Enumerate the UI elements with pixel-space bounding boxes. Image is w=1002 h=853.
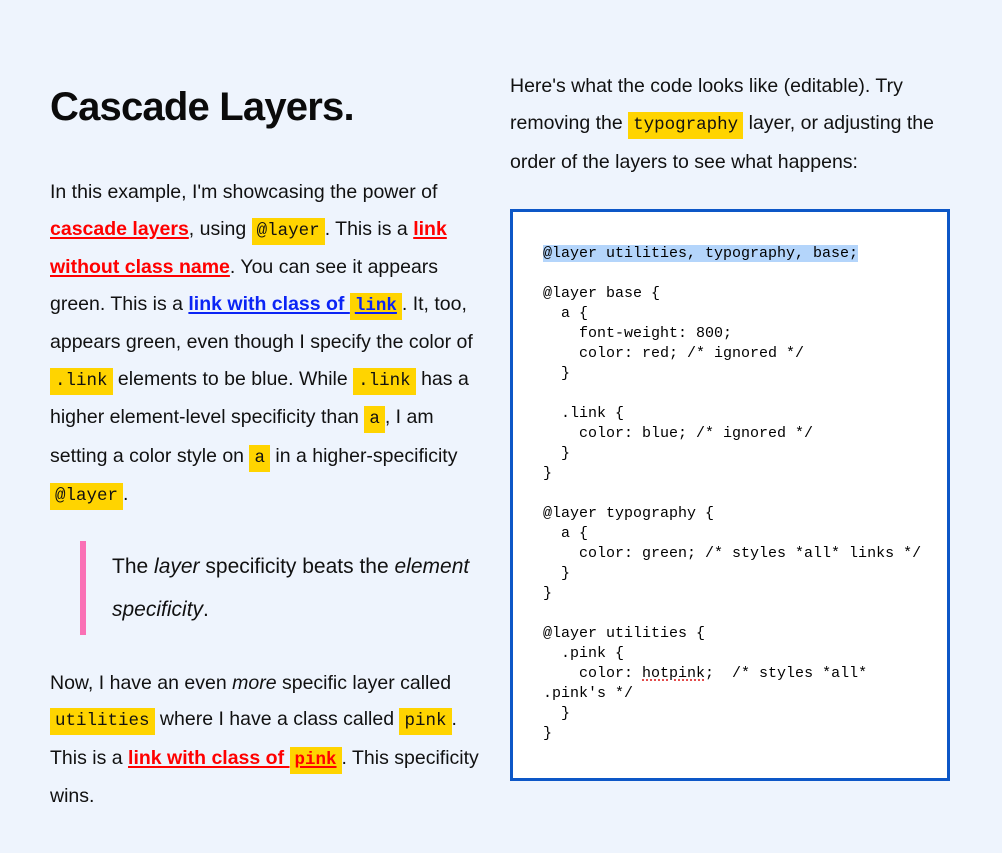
link-label: link with class of <box>188 293 349 315</box>
code-chip-utilities: utilities <box>50 708 155 735</box>
code-chip-pink-link: pink <box>290 747 342 774</box>
text-fragment: In this example, I'm showcasing the powe… <box>50 181 437 203</box>
code-chip-dotlink-2: .link <box>353 368 416 395</box>
code-chip-atlayer-2: @layer <box>50 483 123 510</box>
text-fragment: , using <box>189 218 252 240</box>
page-title: Cascade Layers. <box>50 84 482 130</box>
text-fragment: Now, I have an even <box>50 672 232 694</box>
code-misspelled-hotpink[interactable]: hotpink <box>642 665 705 682</box>
utilities-paragraph: Now, I have an even more specific layer … <box>50 665 482 815</box>
code-chip-a-2: a <box>249 445 270 472</box>
text-fragment: The <box>112 555 154 578</box>
text-fragment: . <box>123 483 128 505</box>
blockquote-specificity: The layer specificity beats the element … <box>80 541 482 635</box>
right-column: Here's what the code looks like (editabl… <box>510 62 950 853</box>
left-column: Cascade Layers. In this example, I'm sho… <box>50 62 482 853</box>
code-chip-pink: pink <box>399 708 451 735</box>
link-with-class-of-pink[interactable]: link with class of pink <box>128 747 341 769</box>
code-chip-atlayer: @layer <box>252 218 325 245</box>
text-fragment: . <box>203 598 209 621</box>
link-cascade-layers[interactable]: cascade layers <box>50 218 189 240</box>
intro-paragraph: In this example, I'm showcasing the powe… <box>50 174 482 515</box>
code-editor-content[interactable]: @layer utilities, typography, base; @lay… <box>543 244 929 744</box>
code-block-part-1: @layer base { a { font-weight: 800; colo… <box>543 285 921 682</box>
code-intro-paragraph: Here's what the code looks like (editabl… <box>510 68 950 181</box>
emphasis-more: more <box>232 672 276 694</box>
emphasis-layer: layer <box>154 555 200 578</box>
link-label: link with class of <box>128 747 289 769</box>
text-fragment: specific layer called <box>277 672 452 694</box>
text-fragment: . This is a <box>325 218 414 240</box>
text-fragment: specificity beats the <box>200 555 395 578</box>
code-chip-link: link <box>350 293 402 320</box>
code-chip-typography: typography <box>628 112 743 139</box>
page-root: Cascade Layers. In this example, I'm sho… <box>0 0 1002 853</box>
link-with-class-of-link[interactable]: link with class of link <box>188 293 401 315</box>
code-chip-dotlink-1: .link <box>50 368 113 395</box>
text-fragment: where I have a class called <box>155 708 400 730</box>
code-chip-a-1: a <box>364 406 385 433</box>
code-editor-panel[interactable]: @layer utilities, typography, base; @lay… <box>510 209 950 781</box>
text-fragment: in a higher-specificity <box>270 445 458 467</box>
text-fragment: elements to be blue. While <box>113 368 354 390</box>
code-selected-line[interactable]: @layer utilities, typography, base; <box>543 245 858 262</box>
